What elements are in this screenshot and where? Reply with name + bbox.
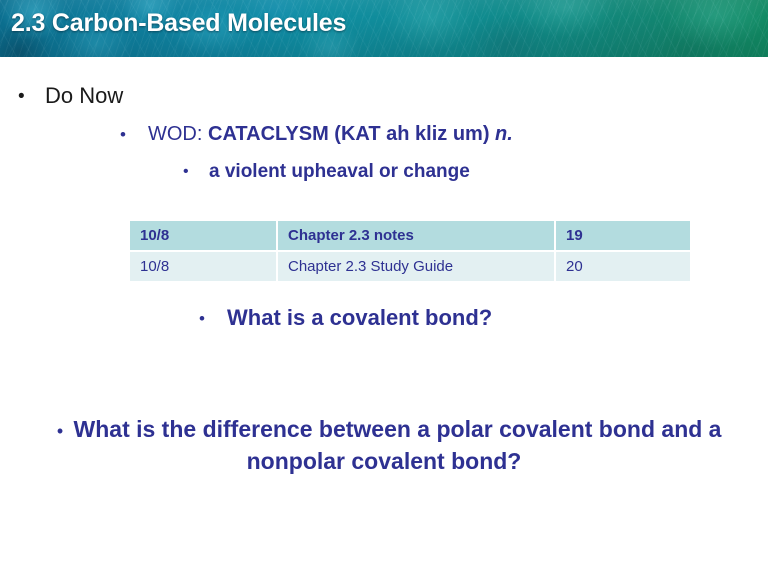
question-polar-vs-nonpolar-text: What is the difference between a polar c… xyxy=(74,416,722,474)
wod-definition-text: a violent upheaval or change xyxy=(209,161,470,182)
slide: 2.3 Carbon-Based Molecules •Do Now •WOD:… xyxy=(0,0,768,576)
table-cell-assignment: Chapter 2.3 notes xyxy=(278,221,554,250)
bullet-marker-icon: • xyxy=(47,419,74,444)
wod-part-of-speech: n. xyxy=(495,123,513,145)
page-title: 2.3 Carbon-Based Molecules xyxy=(11,9,346,38)
slide-header-banner: 2.3 Carbon-Based Molecules xyxy=(0,0,768,57)
table-row-header: 10/8 Chapter 2.3 notes 19 xyxy=(130,221,690,250)
assignments-table: 10/8 Chapter 2.3 notes 19 10/8 Chapter 2… xyxy=(128,219,692,283)
wod-prefix: WOD: xyxy=(148,123,208,145)
question-covalent-bond: •What is a covalent bond? xyxy=(199,305,492,330)
bullet-do-now-label: Do Now xyxy=(45,83,123,108)
question-covalent-bond-text: What is a covalent bond? xyxy=(227,305,492,330)
table-cell-assignment: Chapter 2.3 Study Guide xyxy=(278,252,554,281)
table-row: 10/8 Chapter 2.3 Study Guide 20 xyxy=(130,252,690,281)
bullet-word-definition: •a violent upheaval or change xyxy=(183,161,470,183)
bullet-marker-icon: • xyxy=(18,86,45,108)
bullet-marker-icon: • xyxy=(199,309,227,329)
table-cell-page: 20 xyxy=(556,252,690,281)
table-cell-date: 10/8 xyxy=(130,221,276,250)
bullet-word-of-the-day: •WOD: CATACLYSM (KAT ah kliz um) n. xyxy=(120,123,513,146)
table-cell-date: 10/8 xyxy=(130,252,276,281)
slide-body: •Do Now •WOD: CATACLYSM (KAT ah kliz um)… xyxy=(0,57,768,576)
table-cell-page: 19 xyxy=(556,221,690,250)
wod-term: CATACLYSM (KAT ah kliz um) xyxy=(208,123,489,145)
question-polar-vs-nonpolar: •What is the difference between a polar … xyxy=(34,414,734,477)
bullet-marker-icon: • xyxy=(183,163,209,181)
bullet-do-now: •Do Now xyxy=(18,83,123,108)
bullet-marker-icon: • xyxy=(120,125,148,145)
